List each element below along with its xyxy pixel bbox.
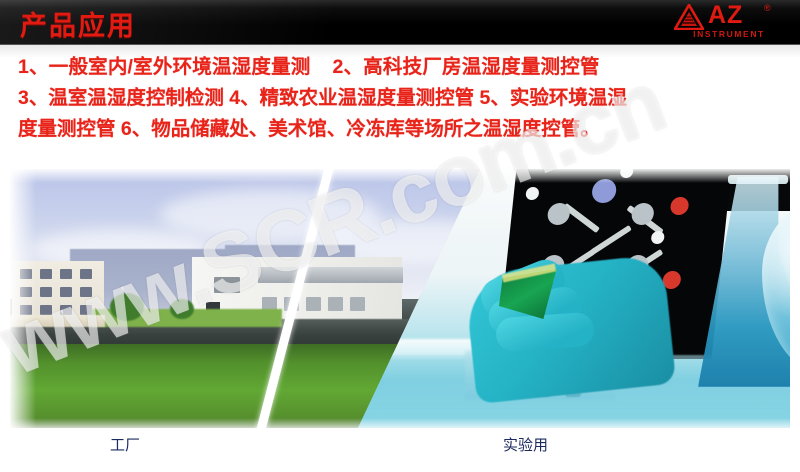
logo-subtitle-text: INSTRUMENT — [672, 29, 786, 39]
logo-brand-text: AZ — [708, 1, 743, 29]
band-left-fade — [10, 169, 36, 428]
band-top-fade — [10, 169, 790, 183]
page-title: 产品应用 — [20, 4, 136, 43]
triangle-a-logo-icon — [674, 4, 704, 30]
application-line-2: 3、温室温湿度控制检测 4、精致农业温湿度量测控管 5、实验环境温湿 — [18, 83, 788, 114]
caption-laboratory: 实验用 — [503, 434, 548, 455]
application-line-3: 度量测控管 6、物品储藏处、美术馆、冷冻库等场所之温湿度控管。 — [18, 114, 788, 145]
caption-factory: 工厂 — [110, 434, 140, 455]
application-line-1: 1、一般室内/室外环境温湿度量测2、高科技厂房温湿度量测控管 — [18, 52, 788, 83]
media-band — [10, 169, 790, 428]
band-bottom-fade — [10, 418, 790, 428]
header-bar: 产品应用 AZ ® INSTRUMENT — [0, 0, 800, 45]
registered-trademark-icon: ® — [764, 3, 771, 13]
application-list: 1、一般室内/室外环境温湿度量测2、高科技厂房温湿度量测控管 3、温室温湿度控制… — [18, 52, 788, 145]
application-item-1: 1、一般室内/室外环境温湿度量测 — [18, 56, 310, 78]
application-item-2: 2、高科技厂房温湿度量测控管 — [332, 56, 599, 78]
logo-wordmark-row: AZ ® — [666, 3, 786, 31]
slide-root: 产品应用 AZ ® INSTRUMENT — [0, 0, 800, 472]
factory-window-band — [258, 267, 403, 283]
brand-logo: AZ ® INSTRUMENT — [666, 3, 786, 43]
